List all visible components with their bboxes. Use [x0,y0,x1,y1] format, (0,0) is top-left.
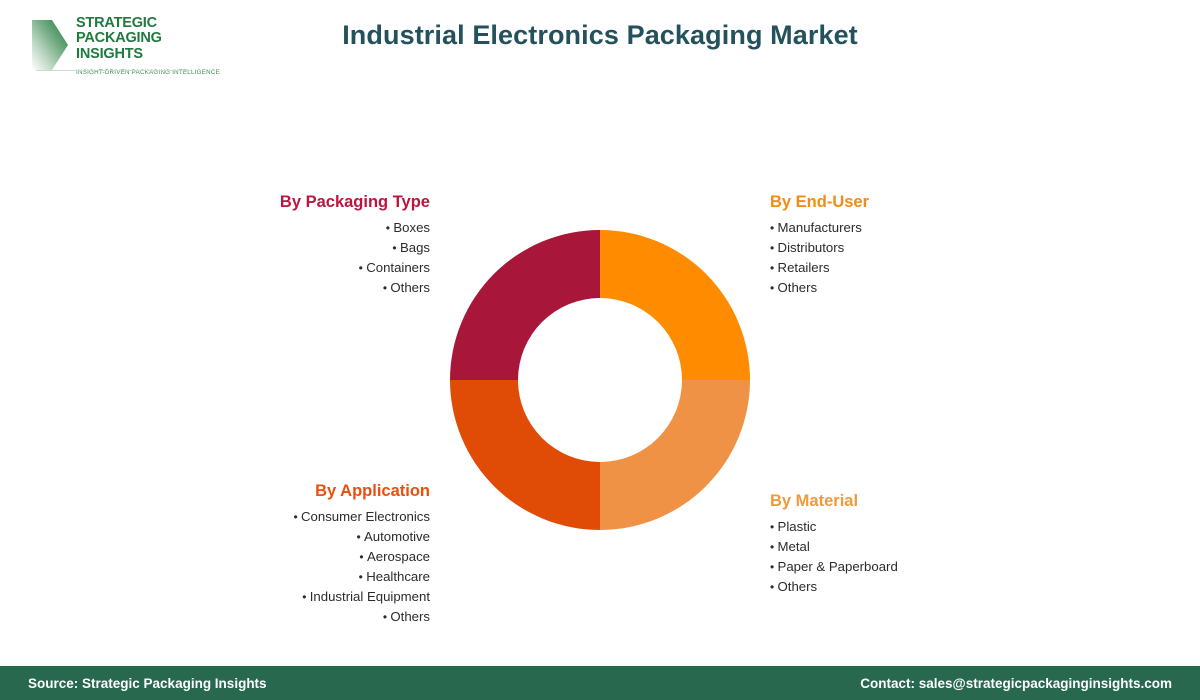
segment-list-item-label: Metal [778,539,810,554]
bullet-icon: • [770,221,778,235]
segment-list-item-label: Containers [366,260,430,275]
footer-source: Source: Strategic Packaging Insights [28,676,267,691]
segment-packaging-type: By Packaging Type • Boxes• Bags• Contain… [130,192,430,298]
segment-end-user-list: • Manufacturers• Distributors• Retailers… [770,218,1070,298]
segment-list-item-label: Paper & Paperboard [778,559,898,574]
segment-list-item: • Others [770,278,1070,298]
page-title: Industrial Electronics Packaging Market [0,20,1200,51]
donut-slice-by-packaging-type [450,230,600,380]
segment-list-item-label: Retailers [778,260,830,275]
bullet-icon: • [770,261,778,275]
segment-list-item: • Bags [130,238,430,258]
segment-list-item: • Retailers [770,258,1070,278]
segment-list-item: • Aerospace [130,547,430,567]
segment-material: By Material • Plastic• Metal• Paper & Pa… [770,491,1070,597]
donut-slice-by-end-user [600,230,750,380]
segment-list-item-label: Bags [400,240,430,255]
segment-end-user-title: By End-User [770,192,1070,212]
bullet-icon: • [392,241,400,255]
footer-contact: Contact: sales@strategicpackaginginsight… [860,676,1172,691]
bullet-icon: • [770,520,778,534]
donut-slice-by-application [450,380,600,530]
footer-bar: Source: Strategic Packaging Insights Con… [0,666,1200,700]
bullet-icon: • [302,590,310,604]
segment-application-list: • Consumer Electronics• Automotive• Aero… [130,507,430,627]
market-segmentation-donut-chart [450,230,750,530]
segment-application: By Application • Consumer Electronics• A… [130,481,430,627]
bullet-icon: • [356,530,364,544]
bullet-icon: • [359,550,367,564]
segment-list-item: • Boxes [130,218,430,238]
segment-list-item: • Consumer Electronics [130,507,430,527]
segment-list-item-label: Boxes [393,220,430,235]
bullet-icon: • [770,540,778,554]
bullet-icon: • [293,510,301,524]
segment-list-item-label: Healthcare [366,569,430,584]
segment-application-title: By Application [130,481,430,501]
segment-list-item-label: Others [778,579,818,594]
segment-packaging-type-list: • Boxes• Bags• Containers• Others [130,218,430,298]
segment-list-item-label: Others [390,609,430,624]
segment-list-item-label: Manufacturers [778,220,862,235]
bullet-icon: • [770,241,778,255]
donut-slice-by-material [600,380,750,530]
segment-list-item: • Healthcare [130,567,430,587]
segment-list-item: • Containers [130,258,430,278]
segment-list-item: • Paper & Paperboard [770,557,1070,577]
segment-list-item: • Automotive [130,527,430,547]
segment-material-title: By Material [770,491,1070,511]
segment-list-item: • Industrial Equipment [130,587,430,607]
bullet-icon: • [770,560,778,574]
segment-packaging-type-title: By Packaging Type [130,192,430,212]
segment-list-item-label: Automotive [364,529,430,544]
logo-divider [36,70,191,71]
segment-list-item: • Others [770,577,1070,597]
segment-list-item-label: Aerospace [367,549,430,564]
segment-list-item: • Others [130,278,430,298]
segment-list-item: • Distributors [770,238,1070,258]
segment-list-item: • Plastic [770,517,1070,537]
segment-list-item-label: Industrial Equipment [310,589,430,604]
segment-end-user: By End-User • Manufacturers• Distributor… [770,192,1070,298]
segment-list-item-label: Consumer Electronics [301,509,430,524]
segment-list-item-label: Others [778,280,818,295]
bullet-icon: • [770,281,778,295]
segment-list-item-label: Plastic [778,519,817,534]
segment-material-list: • Plastic• Metal• Paper & Paperboard• Ot… [770,517,1070,597]
segment-list-item-label: Others [390,280,430,295]
segment-list-item: • Metal [770,537,1070,557]
segment-list-item-label: Distributors [778,240,845,255]
segment-list-item: • Manufacturers [770,218,1070,238]
segment-list-item: • Others [130,607,430,627]
bullet-icon: • [770,580,778,594]
